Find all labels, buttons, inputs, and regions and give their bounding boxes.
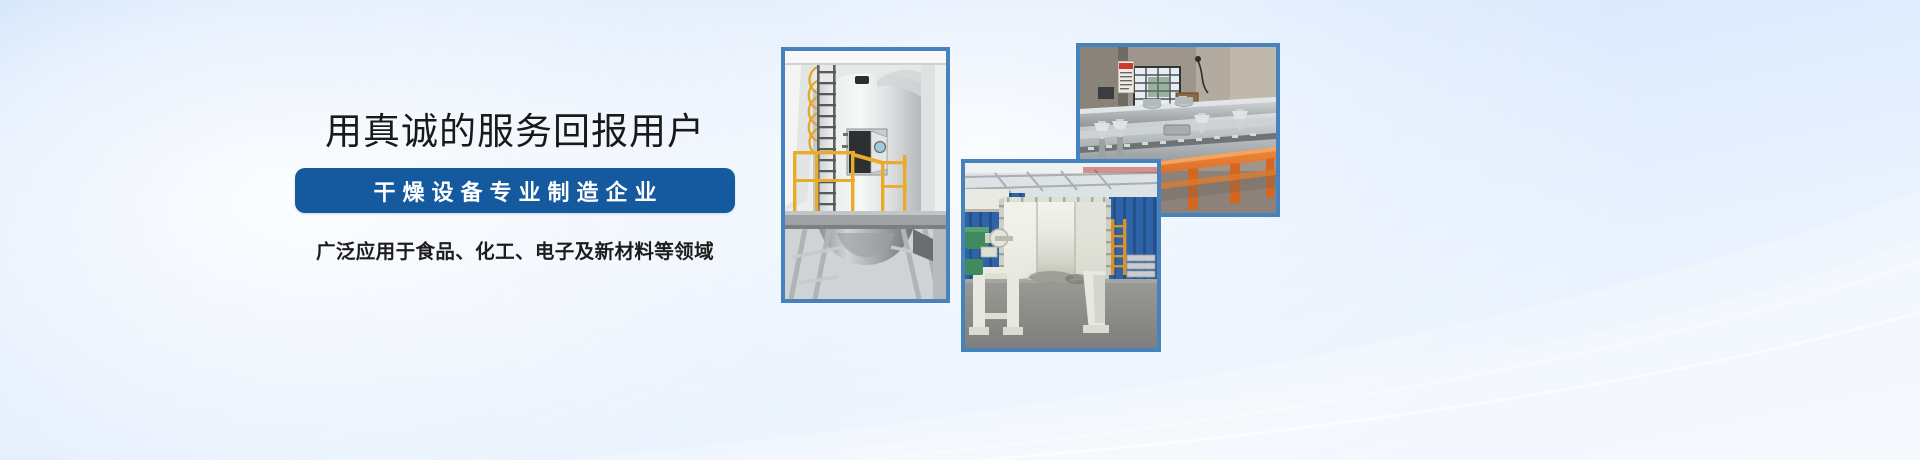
hero-banner: 用真诚的服务回报用户 干燥设备专业制造企业 广泛应用于食品、化工、电子及新材料等… xyxy=(0,0,1920,460)
hero-copy: 用真诚的服务回报用户 干燥设备专业制造企业 广泛应用于食品、化工、电子及新材料等… xyxy=(0,0,760,460)
hero-badge-label: 干燥设备专业制造企业 xyxy=(366,175,663,207)
photo-spray-dryer-image xyxy=(785,51,946,299)
photo-spray-dryer-tower xyxy=(781,47,950,303)
hero-subtitle: 广泛应用于食品、化工、电子及新材料等领域 xyxy=(295,238,735,266)
hero-headline: 用真诚的服务回报用户 xyxy=(295,110,735,154)
hero-badge: 干燥设备专业制造企业 xyxy=(295,168,735,213)
photo-ribbon-mixer-image xyxy=(965,163,1157,348)
photo-ribbon-mixer xyxy=(961,159,1161,352)
